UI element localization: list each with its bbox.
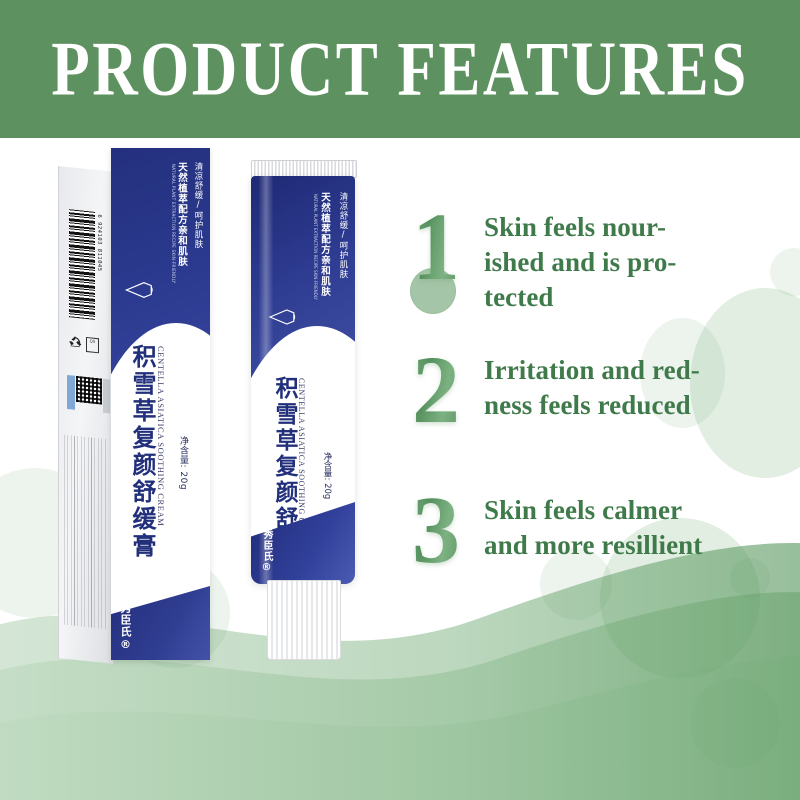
carton-claim: 天然植萃配方亲和肌肤 [174, 162, 188, 267]
product-carton: 6 924103 811045 QS 清凉舒缓/呵护肌肤 天然植萃配方亲和肌肤 [58, 148, 210, 668]
carton-product-name-en: CENTELLA ASIATICA SOOTHING CREAM [156, 346, 166, 526]
feature-item: 2 Irritation and red- ness feels reduced [398, 343, 798, 455]
leaf-emblem-icon [176, 344, 202, 370]
feature-description: Skin feels calmer and more resillient [474, 483, 798, 563]
tube-highlight [259, 176, 273, 584]
feature-line: Irritation and red- [484, 353, 798, 388]
carton-front-panel: 清凉舒缓/呵护肌肤 天然植萃配方亲和肌肤 NATURAL PLANT EXTRA… [111, 148, 210, 660]
tube-claim-english: NATURAL PLANT EXTRACTION RECIPE SKIN-FRI… [313, 194, 318, 300]
leaf-emblem-icon [323, 374, 347, 398]
tube-net-weight: 净含量: 20g [321, 452, 333, 499]
qr-block [67, 375, 107, 421]
tube-outline-icon [119, 268, 163, 312]
carton-fineprint [64, 435, 108, 630]
carton-slogan: 清凉舒缓/呵护肌肤 [192, 162, 204, 249]
page-title: PRODUCT FEATURES [51, 31, 749, 108]
carton-net-weight: 净含量: 20g [177, 436, 190, 490]
feature-line: and more resillient [484, 528, 798, 563]
qr-label-left [67, 375, 75, 410]
tube-claim: 天然植萃配方亲和肌肤 [317, 192, 331, 297]
feature-line: ished and is pro- [484, 245, 798, 280]
carton-claim-english: NATURAL PLANT EXTRACTION RECIPE SKIN-FRI… [171, 164, 176, 283]
feature-line: tected [484, 280, 798, 315]
deco-bubble [690, 678, 780, 768]
recycle-icon [68, 335, 82, 350]
header-banner: PRODUCT FEATURES [0, 0, 800, 138]
feature-item: 1 Skin feels nour- ished and is pro- tec… [398, 200, 798, 315]
tube-slogan: 清凉舒缓/呵护肌肤 [337, 192, 349, 279]
feature-number: 3 [398, 483, 474, 577]
feature-item: 3 Skin feels calmer and more resillient [398, 483, 798, 595]
feature-description: Skin feels nour- ished and is pro- tecte… [474, 200, 798, 315]
carton-side-panel: 6 924103 811045 QS [58, 166, 113, 664]
product-tube: 清凉舒缓/呵护肌肤 天然植萃配方亲和肌肤 NATURAL PLANT EXTRA… [245, 160, 361, 670]
tube-body: 清凉舒缓/呵护肌肤 天然植萃配方亲和肌肤 NATURAL PLANT EXTRA… [251, 176, 355, 584]
feature-line: Skin feels nour- [484, 210, 798, 245]
feature-line: Skin feels calmer [484, 493, 798, 528]
qr-code-icon [76, 376, 102, 405]
certification-mark: QS [86, 337, 99, 353]
feature-line: ness feels reduced [484, 388, 798, 423]
product-features-page: PRODUCT FEATURES [0, 0, 800, 800]
feature-description: Irritation and red- ness feels reduced [474, 343, 798, 423]
carton-product-name-cn: 积雪草复颜舒缓膏 [125, 344, 160, 560]
feature-number: 1 [398, 200, 474, 294]
product-image-area: 6 924103 811045 QS 清凉舒缓/呵护肌肤 天然植萃配方亲和肌肤 [0, 138, 400, 698]
carton-brand-name: 素秀臣氏® [117, 590, 133, 652]
feature-list: 1 Skin feels nour- ished and is pro- tec… [398, 200, 798, 623]
barcode-icon [69, 209, 95, 320]
tube-cap [267, 580, 341, 660]
barcode-digits: 6 924103 811045 [96, 214, 102, 272]
feature-number: 2 [398, 343, 474, 437]
qr-label-right [103, 379, 110, 414]
